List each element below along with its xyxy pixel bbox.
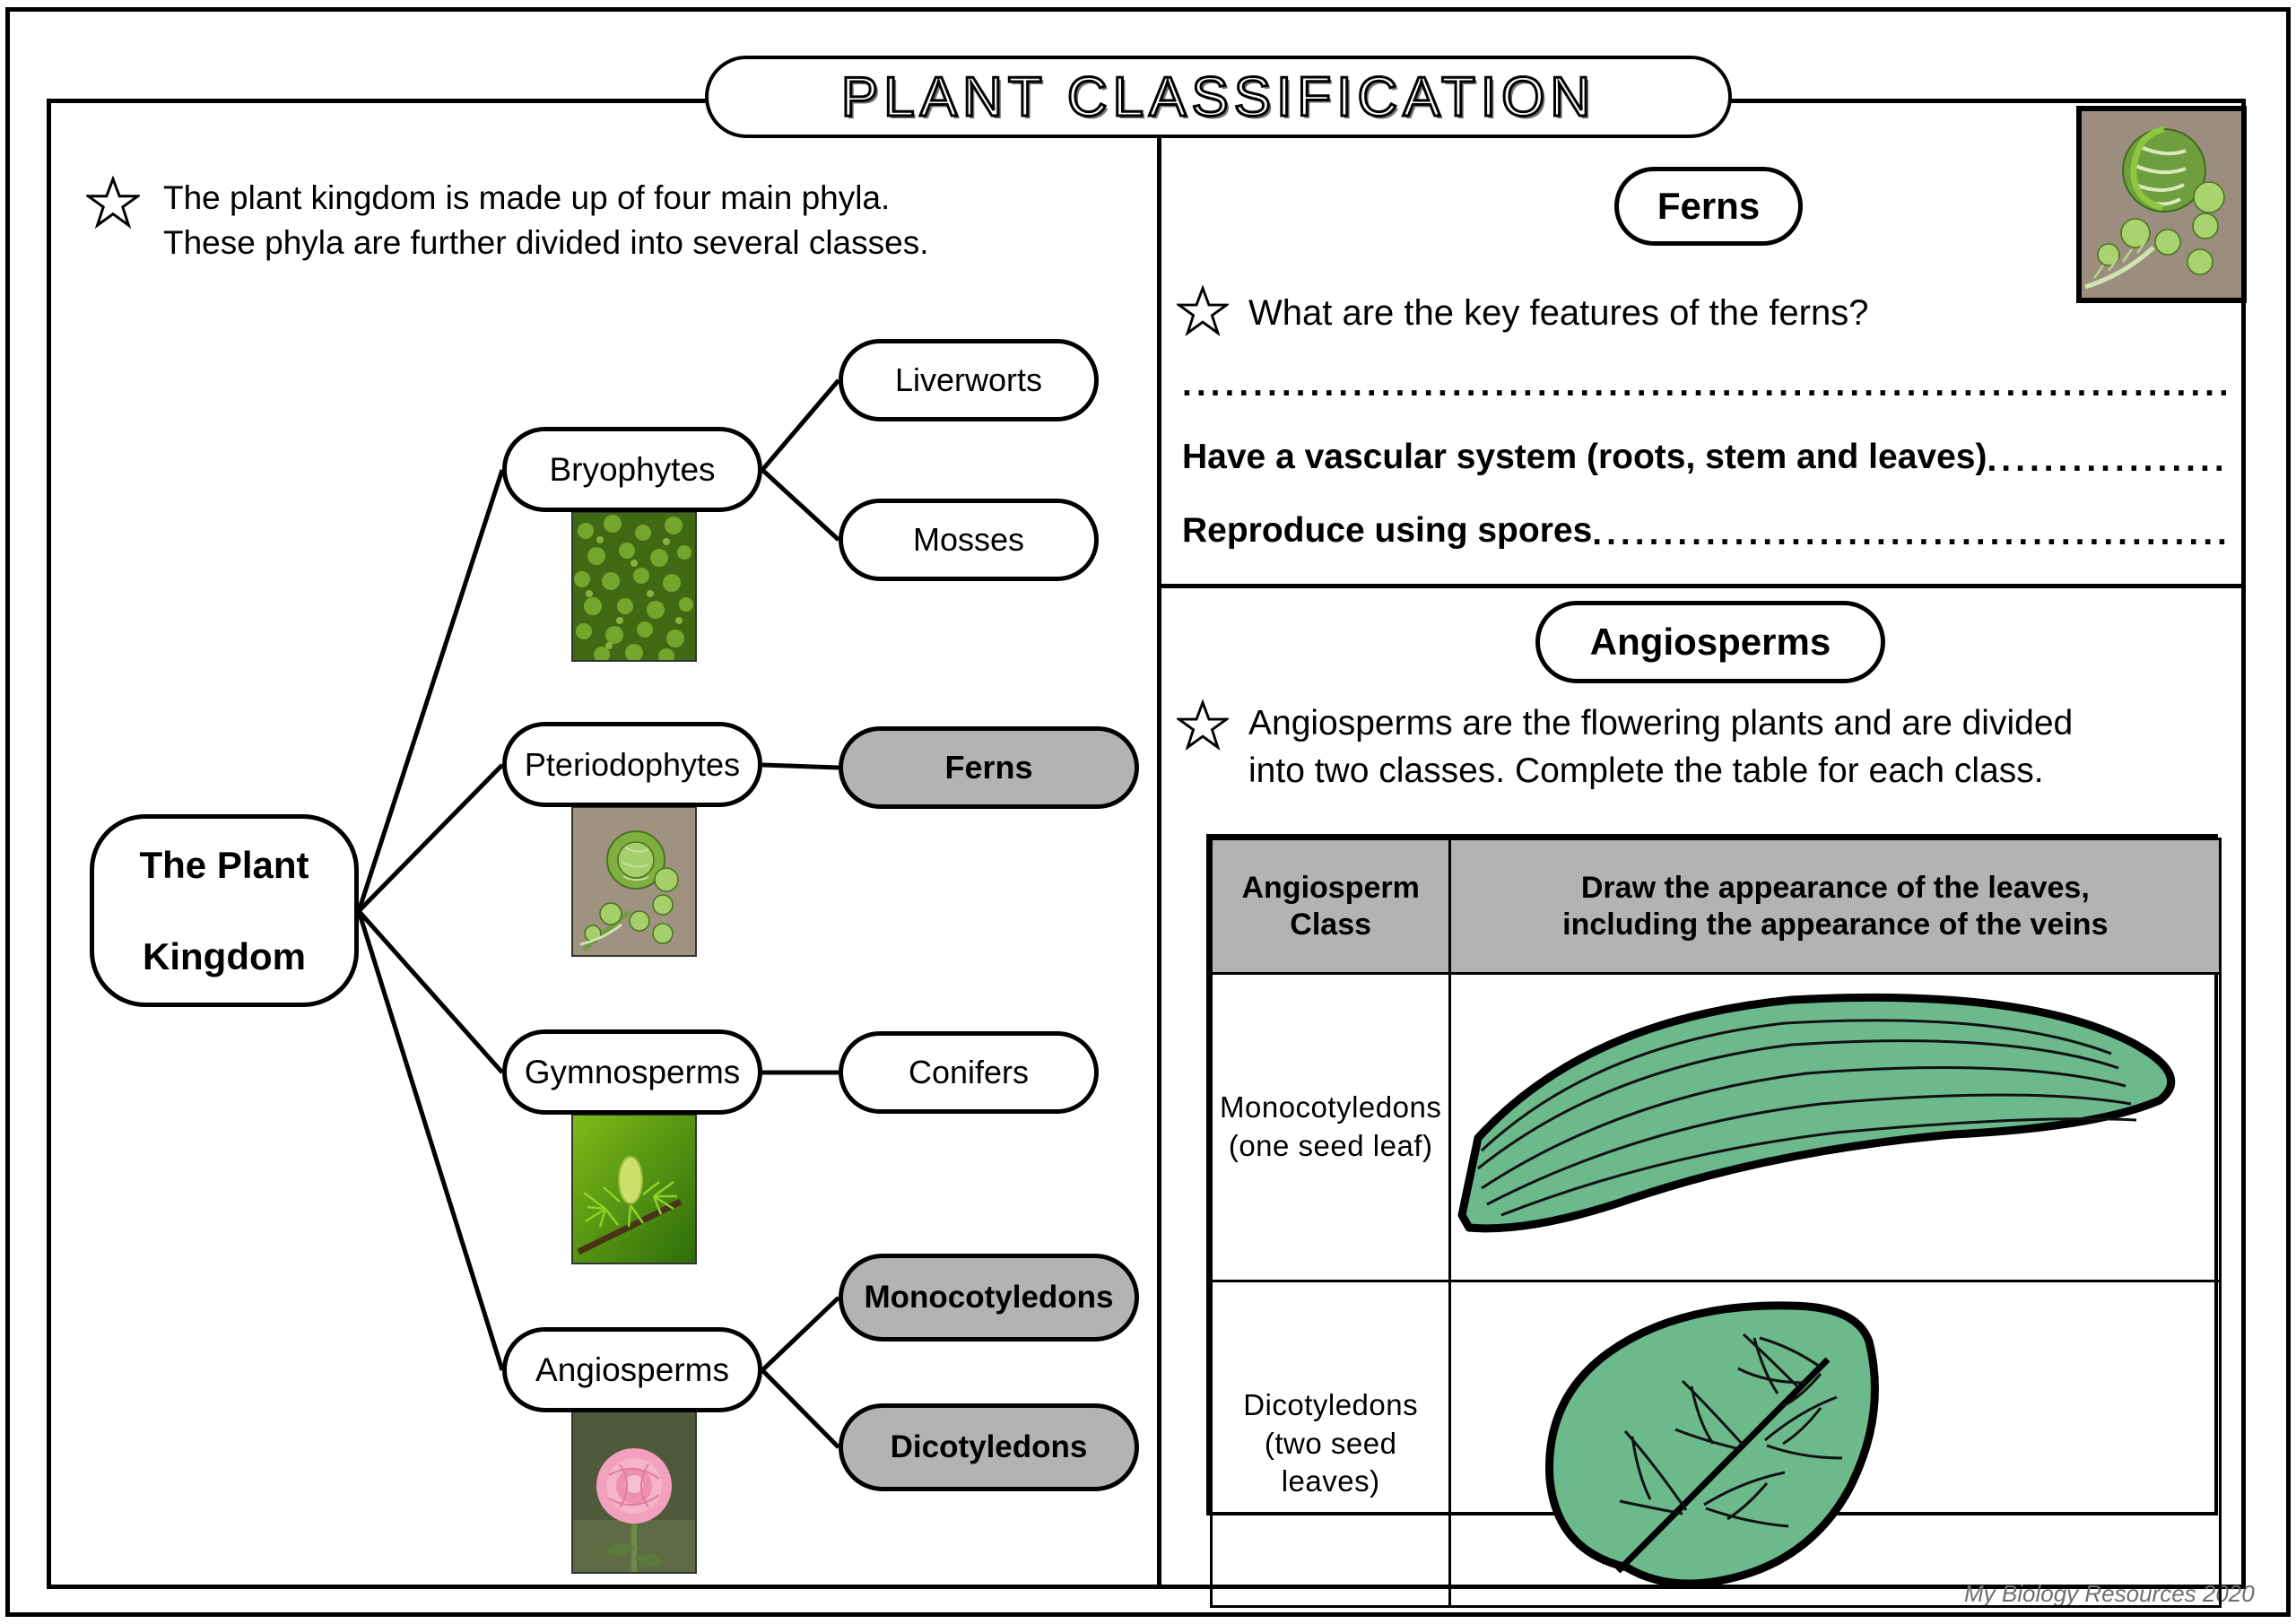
node-label: Mosses — [900, 521, 1037, 559]
monocot-leaf-parallel-veins-drawing — [1451, 975, 2219, 1280]
node-bryophytes[interactable]: Bryophytes — [502, 427, 762, 512]
node-label: Ferns — [932, 749, 1045, 786]
row-line-2: (one seed leaf) — [1229, 1129, 1433, 1162]
node-mosses[interactable]: Mosses — [839, 499, 1099, 581]
pill-label: Angiosperms — [1590, 621, 1831, 664]
rose-photo — [571, 1411, 697, 1574]
section-heading-angiosperms: Angiosperms — [1535, 601, 1885, 683]
section-heading-ferns: Ferns — [1614, 167, 1803, 246]
title-banner: PLANT CLASSIFICATION — [705, 56, 1732, 138]
root-line-1: The Plant — [126, 842, 321, 888]
row-line-1: Dicotyledons — [1243, 1388, 1418, 1421]
node-the-plant-kingdom[interactable]: The Plant Kingdom — [90, 814, 359, 1007]
node-pteriodophytes[interactable]: Pteriodophytes — [502, 722, 762, 807]
table-row: Dicotyledons (two seed leaves) — [1212, 1281, 2221, 1607]
drawing-cell-monocot[interactable] — [1450, 974, 2221, 1281]
node-angiosperms[interactable]: Angiosperms — [502, 1327, 762, 1412]
table-row: Monocotyledons (one seed leaf) — [1212, 974, 2221, 1281]
pill-label: Ferns — [1657, 185, 1760, 228]
drawing-cell-dicot[interactable] — [1450, 1281, 2221, 1607]
node-label: Angiosperms — [523, 1351, 742, 1389]
node-label: Bryophytes — [536, 451, 727, 489]
header-line-1: Angiosperm — [1241, 871, 1419, 905]
node-liverworts[interactable]: Liverworts — [839, 339, 1099, 421]
node-label: Conifers — [896, 1054, 1041, 1091]
row-label-monocotyledons: Monocotyledons (one seed leaf) — [1212, 974, 1450, 1281]
header-draw-leaves: Draw the appearance of the leaves, inclu… — [1450, 839, 2221, 974]
node-label: Dicotyledons — [878, 1429, 1100, 1465]
header-line-1: Draw the appearance of the leaves, — [1581, 871, 2090, 905]
moss-photo — [571, 511, 697, 662]
row-line-1: Monocotyledons — [1220, 1090, 1441, 1124]
conifer-photo — [571, 1114, 697, 1264]
node-label: The Plant Kingdom — [114, 842, 334, 980]
row-line-3: leaves) — [1282, 1464, 1380, 1498]
node-label: Monocotyledons — [851, 1280, 1126, 1316]
node-label: Gymnosperms — [512, 1054, 753, 1091]
header-line-2: Class — [1290, 908, 1371, 942]
header-angiosperm-class: Angiosperm Class — [1212, 839, 1450, 974]
node-gymnosperms[interactable]: Gymnosperms — [502, 1029, 762, 1115]
page-title: PLANT CLASSIFICATION — [841, 65, 1596, 129]
table-header-row: Angiosperm Class Draw the appearance of … — [1212, 839, 2221, 974]
fern-fiddlehead-photo — [2076, 106, 2247, 303]
node-ferns[interactable]: Ferns — [839, 726, 1139, 809]
node-conifers[interactable]: Conifers — [839, 1031, 1099, 1114]
root-line-2: Kingdom — [126, 934, 321, 979]
header-line-2: including the appearance of the veins — [1562, 908, 2108, 942]
angiosperm-table: Angiosperm Class Draw the appearance of … — [1206, 834, 2218, 1515]
row-line-2: (two seed — [1265, 1427, 1397, 1460]
node-label: Liverworts — [883, 361, 1055, 399]
dicot-leaf-net-veins-drawing — [1451, 1282, 2219, 1605]
fern-fiddlehead-photo-small — [571, 806, 697, 957]
node-label: Pteriodophytes — [512, 746, 752, 784]
node-monocotyledons[interactable]: Monocotyledons — [839, 1254, 1139, 1342]
worksheet-page: PLANT CLASSIFICATION The plant kingdom i… — [0, 0, 2296, 1624]
node-dicotyledons[interactable]: Dicotyledons — [839, 1403, 1139, 1491]
row-label-dicotyledons: Dicotyledons (two seed leaves) — [1212, 1281, 1450, 1607]
